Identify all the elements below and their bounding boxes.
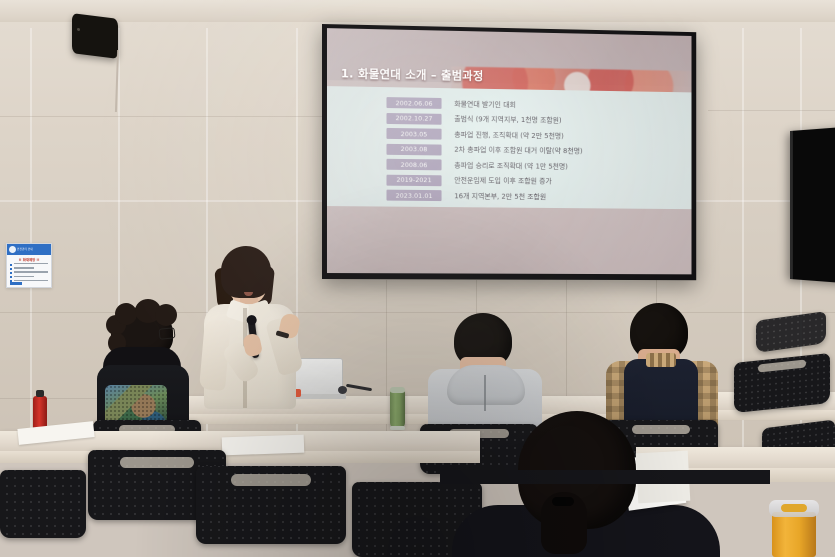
- orange-drink-cup[interactable]: [772, 512, 816, 557]
- poster-row: [10, 271, 48, 274]
- bullet-icon: [10, 264, 12, 266]
- hood-seam: [484, 375, 486, 411]
- wall-seam: [708, 110, 835, 111]
- wall-seam: [386, 280, 387, 452]
- bullet-icon: [10, 268, 12, 270]
- slide-title: 1. 화물연대 소개 – 출범과정: [341, 65, 484, 84]
- wall-tv: [790, 125, 835, 284]
- presenter-hair: [221, 246, 271, 298]
- notice-poster: 안전관리 안내 !! 화재예방 !!: [6, 243, 52, 288]
- tumbler-lid: [390, 387, 405, 393]
- glasses-icon: [158, 327, 175, 340]
- presentation-slide: 1. 화물연대 소개 – 출범과정 2002.06.06화물연대 발기인 대회2…: [327, 28, 692, 274]
- poster-line: [14, 263, 49, 264]
- wall-speaker-icon: [72, 13, 118, 59]
- wall-seam: [30, 28, 32, 452]
- slide-date-badge: 2003.05: [386, 128, 441, 140]
- hair-curl: [155, 304, 177, 326]
- poster-rows: [7, 263, 51, 282]
- hair-tie: [552, 497, 574, 506]
- poster-line: [14, 276, 35, 277]
- laptop-mouse[interactable]: [338, 386, 347, 394]
- slide-row-text: 16개 지역본부, 2만 5천 조합원: [454, 191, 546, 202]
- slide-row-text: 안전운임제 도입 이후 조합원 증가: [454, 176, 551, 187]
- chair-handle-slot: [120, 457, 194, 468]
- slide-date-badge: 2002.06.06: [386, 97, 441, 109]
- poster-row: [10, 267, 48, 270]
- cup-lid-inner: [781, 504, 807, 512]
- bullet-icon: [10, 272, 12, 274]
- poster-line: [14, 280, 49, 281]
- front-table-edge-dark: [440, 470, 770, 484]
- wall-seam: [0, 116, 322, 117]
- bullet-icon: [10, 276, 12, 278]
- slide-row-text: 2차 총파업 이후 조합원 대거 이탈(약 8천명): [454, 145, 582, 156]
- slide-row-text: 총파업 승리로 조직확대 (약 1만 5천명): [454, 160, 568, 171]
- paper-sheet: [222, 435, 305, 456]
- attendee-shirt-collar: [646, 353, 676, 367]
- slide-timeline-row: 2023.01.0116개 지역본부, 2만 5천 조합원: [386, 188, 582, 205]
- slide-date-badge: 2002.10.27: [386, 113, 441, 125]
- poster-title: !! 화재예방 !!: [7, 255, 51, 263]
- projector-screen: 1. 화물연대 소개 – 출범과정 2002.06.06화물연대 발기인 대회2…: [322, 24, 696, 280]
- attendee-hood: [447, 365, 525, 405]
- poster-logo-icon: [9, 246, 16, 253]
- chair-handle-slot: [231, 474, 311, 486]
- lecture-room-scene: 안전관리 안내 !! 화재예방 !! 1. 화물연대 소개 – 출범과정 200…: [0, 0, 835, 557]
- slide-body: 2002.06.06화물연대 발기인 대회2002.10.27출범식 (9개 지…: [327, 86, 692, 209]
- slide-timeline-rows: 2002.06.06화물연대 발기인 대회2002.10.27출범식 (9개 지…: [386, 95, 582, 205]
- extinguisher-handle: [36, 390, 44, 397]
- chair-mesh: [0, 470, 86, 538]
- slide-row-text: 출범식 (9개 지역지부, 1천명 조합원): [454, 114, 561, 125]
- poster-row: [10, 263, 48, 266]
- slide-date-badge: 2003.08: [386, 144, 441, 156]
- green-tumbler[interactable]: [390, 390, 405, 428]
- chair-handle-slot: [632, 425, 690, 434]
- slide-date-badge: 2019-2021: [386, 174, 441, 186]
- projection-surface: 1. 화물연대 소개 – 출범과정 2002.06.06화물연대 발기인 대회2…: [327, 28, 692, 274]
- poster-line: [14, 267, 35, 268]
- poster-row: [10, 276, 48, 279]
- slide-date-badge: 2008.06: [386, 159, 441, 171]
- slide-row-text: 총파업 진행, 조직확대 (약 2만 5천명): [454, 130, 564, 141]
- hair-curl: [115, 303, 137, 325]
- slide-footer-band: [327, 206, 692, 274]
- poster-footer: [10, 282, 22, 285]
- slide-date-badge: 2023.01.01: [386, 190, 441, 201]
- presenter: [196, 246, 316, 411]
- tumbler-base: [390, 426, 405, 430]
- poster-line: [14, 271, 49, 272]
- slide-row-text: 화물연대 발기인 대회: [454, 99, 516, 110]
